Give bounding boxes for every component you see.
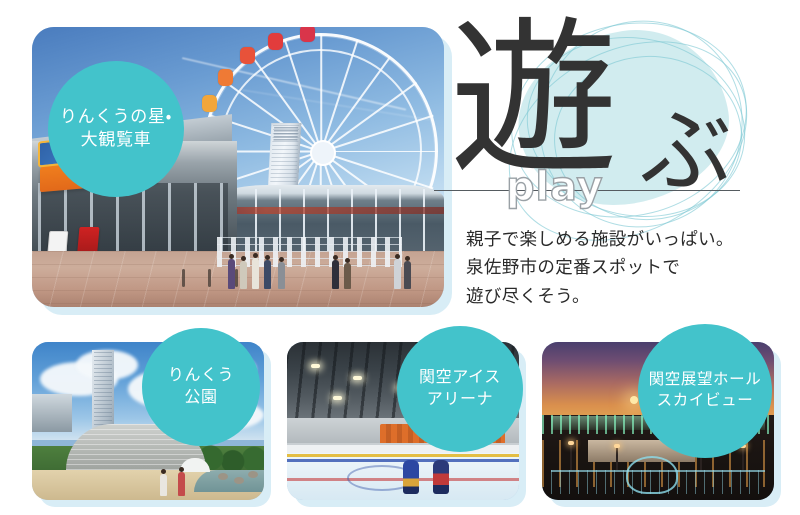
observation-deck-railing (551, 470, 764, 494)
thumb-label-line2: 公園 (184, 387, 217, 409)
costumed-skater (403, 460, 419, 494)
person-figure (332, 260, 339, 289)
person-figure (344, 263, 351, 289)
hero-label-line2: 大観覧車 (81, 129, 152, 152)
thumbnail-label-bubble-kanku-skyview[interactable]: 関空展望ホール スカイビュー (638, 324, 772, 458)
person-figure (264, 260, 271, 289)
person-figure (240, 261, 247, 289)
gondola-icon (300, 27, 315, 42)
lede-line-2: 泉佐野市の定番スポットで (466, 253, 796, 281)
person-figure (394, 259, 401, 289)
thumb-label-line2: アリーナ (427, 389, 494, 411)
person-figure (160, 474, 167, 496)
gondola-icon (202, 95, 217, 112)
title-kana: ぶ (640, 106, 732, 198)
lede-text: 親子で楽しめる施設がいっぱい。 泉佐野市の定番スポットで 遊び尽くそう。 (466, 225, 796, 310)
person-figure (228, 259, 235, 289)
thumbnail-label-bubble-kanku-ice-arena[interactable]: 関空アイス アリーナ (397, 326, 523, 452)
costumed-skater (433, 460, 449, 494)
person-figure (278, 262, 285, 289)
thumb-label-line1: 関空展望ホール (649, 370, 762, 391)
lede-line-3: 遊び尽くそう。 (466, 282, 796, 310)
title-block: 遊 ぶ play 親子で楽しめる施設がいっぱい。 泉佐野市の定番スポットで 遊び… (444, 10, 800, 310)
person-figure (252, 258, 259, 289)
sun-glow (630, 396, 638, 404)
lede-line-1: 親子で楽しめる施設がいっぱい。 (466, 225, 796, 253)
hero-label-bubble[interactable]: りんくうの星・ 大観覧車 (48, 61, 184, 197)
play-section: りんくうの星・ 大観覧車 遊 ぶ play 親子で楽しめる施設がいっぱい。 泉佐… (0, 0, 800, 515)
gondola-icon (218, 69, 233, 86)
person-figure (178, 472, 185, 496)
thumb-label-line2: スカイビュー (657, 391, 754, 412)
thumbnail-card-kanku-skyview[interactable]: 関空展望ホール スカイビュー (542, 342, 774, 500)
thumbnail-card-kanku-ice-arena[interactable]: 関空アイス アリーナ (287, 342, 519, 500)
thumbnail-card-rinku-park[interactable]: りんくう 公園 (32, 342, 264, 500)
ferris-wheel-hub (310, 140, 336, 166)
hero-photo-card[interactable]: りんくうの星・ 大観覧車 (32, 27, 444, 307)
thumb-label-line1: りんくう (168, 365, 234, 387)
thumbnail-label-bubble-rinku-park[interactable]: りんくう 公園 (142, 328, 260, 446)
title-romaji: play (506, 164, 603, 210)
park-building (32, 394, 72, 432)
gondola-icon (268, 33, 283, 50)
gondola-icon (240, 47, 255, 64)
thumb-label-line1: 関空アイス (419, 367, 501, 389)
title-kanji: 遊 (450, 16, 618, 184)
person-figure (404, 261, 411, 289)
hero-label-line1: りんくうの星・ (60, 106, 172, 129)
